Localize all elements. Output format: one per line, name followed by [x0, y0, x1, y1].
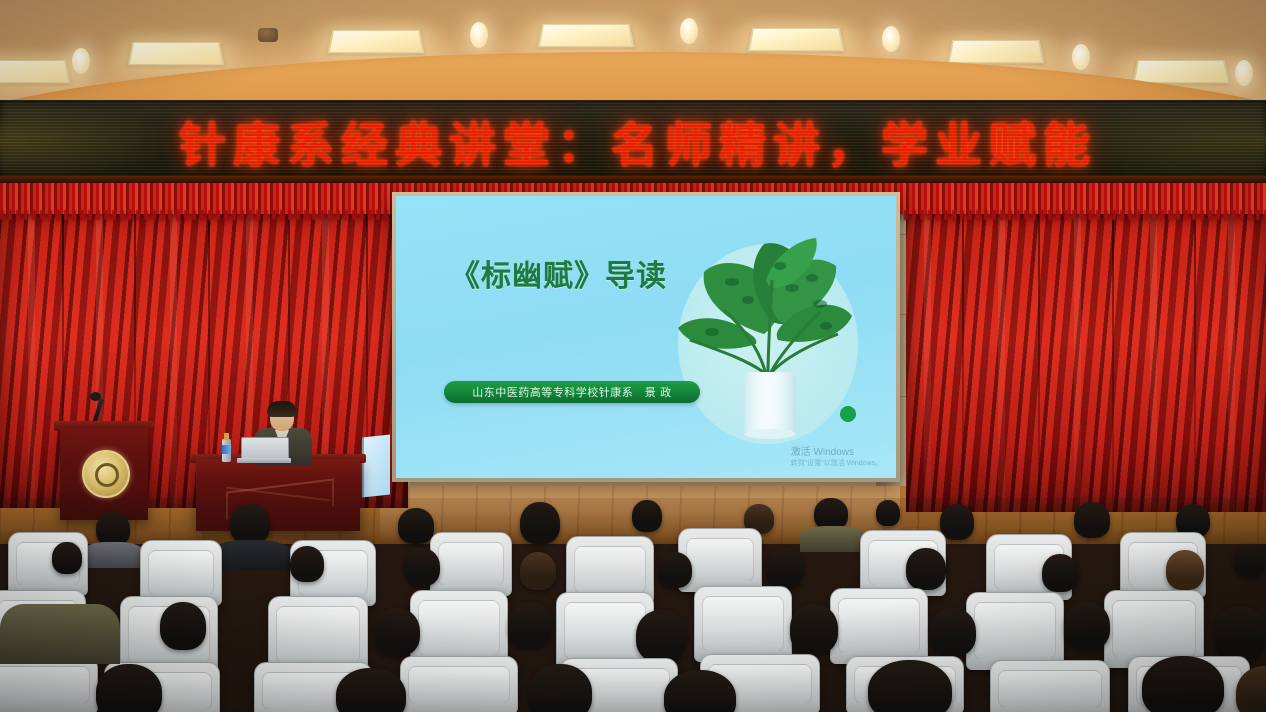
audience-head — [766, 548, 804, 588]
audience-head — [520, 552, 556, 590]
ceiling-panel-light — [748, 28, 845, 51]
audience-head — [398, 508, 434, 544]
ceiling-panel-light — [0, 60, 70, 83]
ceiling-spot-light — [1072, 44, 1090, 70]
audience-head — [1142, 656, 1224, 712]
watermark-line-1: 激活 Windows — [791, 447, 882, 459]
audience-head — [336, 668, 406, 712]
audience-shoulders — [82, 542, 144, 568]
audience-head — [876, 500, 900, 526]
audience-head — [1042, 554, 1078, 592]
audience-head — [906, 548, 946, 590]
audience-head — [658, 552, 692, 588]
ceiling-spot-light — [882, 26, 900, 52]
audience-head — [528, 664, 592, 712]
auditorium-seat — [966, 592, 1064, 670]
led-banner-text: 针康系经典讲堂：名师精讲，学业赋能 — [0, 107, 1266, 176]
audience-head — [404, 548, 440, 586]
stage-curtain-right — [906, 196, 1266, 512]
school-seal-emblem-icon — [82, 450, 130, 498]
ceiling-spot-light — [1235, 60, 1253, 86]
ceiling-spot-light — [470, 22, 488, 48]
audience-head — [96, 664, 162, 712]
audience-shoulders — [800, 526, 866, 552]
monstera-plant-illustration — [660, 204, 870, 454]
windows-activation-watermark: 激活 Windows 转到"设置"以激活 Windows。 — [791, 447, 882, 468]
slide-title: 《标幽赋》导读 — [450, 251, 667, 295]
projection-screen: 《标幽赋》导读 山东中医药高等专科学校针康系 景 政 激活 Windows 转到… — [392, 192, 900, 482]
audience-head — [1234, 544, 1266, 578]
auditorium-seat — [410, 590, 508, 666]
side-monitor — [362, 435, 390, 498]
audience-head — [868, 660, 952, 712]
ceiling-spot-light — [680, 18, 698, 44]
ceiling-panel-light — [328, 30, 425, 53]
audience-head — [1064, 602, 1110, 650]
led-banner: 针康系经典讲堂：名师精讲，学业赋能 — [0, 100, 1266, 182]
laptop-base — [237, 458, 291, 463]
audience-head — [632, 500, 662, 532]
presentation-slide: 《标幽赋》导读 山东中医药高等专科学校针康系 景 政 激活 Windows 转到… — [396, 196, 896, 478]
audience-head — [96, 512, 130, 546]
audience-head — [230, 504, 270, 544]
audience-head — [1166, 550, 1204, 590]
audience-head — [374, 608, 420, 656]
ceiling-panel-light — [128, 42, 225, 65]
audience-head — [790, 604, 838, 654]
valance-rail — [0, 176, 1266, 183]
auditorium-seat — [830, 588, 928, 664]
auditorium-seat — [400, 656, 518, 712]
slide-affiliation-text: 山东中医药高等专科学校针康系 景 政 — [444, 381, 700, 403]
audience-shoulders — [212, 540, 290, 570]
auditorium-seat — [694, 586, 792, 662]
green-leaf-icon — [840, 406, 856, 422]
audience-head — [520, 502, 560, 544]
ceiling-vent — [258, 28, 278, 42]
auditorium-seat — [678, 528, 762, 592]
water-bottle — [222, 432, 231, 462]
audience-head — [160, 602, 206, 650]
auditorium-seat — [430, 532, 512, 596]
slide-affiliation-pill: 山东中医药高等专科学校针康系 景 政 — [444, 381, 700, 403]
lecture-hall-photo: 针康系经典讲堂：名师精讲，学业赋能 — [0, 0, 1266, 712]
watermark-line-2: 转到"设置"以激活 Windows。 — [791, 459, 882, 468]
ceiling-panel-light — [948, 40, 1045, 63]
audience-head — [940, 504, 974, 540]
laptop — [237, 437, 291, 463]
audience-head — [508, 602, 552, 648]
auditorium-seat — [990, 660, 1110, 712]
ceiling-spot-light — [72, 48, 90, 74]
audience-head — [636, 610, 686, 662]
audience-coat — [0, 604, 120, 664]
ceiling-panel-light — [1133, 60, 1230, 83]
audience-head — [1074, 502, 1110, 538]
audience-head — [1214, 606, 1266, 660]
audience-head — [52, 542, 82, 574]
ceiling-panel-light — [538, 24, 635, 47]
presenter-hair — [267, 401, 297, 417]
audience-head — [930, 608, 976, 656]
audience-head — [290, 546, 324, 582]
auditorium-seat — [0, 656, 98, 712]
audience-area — [0, 498, 1266, 712]
